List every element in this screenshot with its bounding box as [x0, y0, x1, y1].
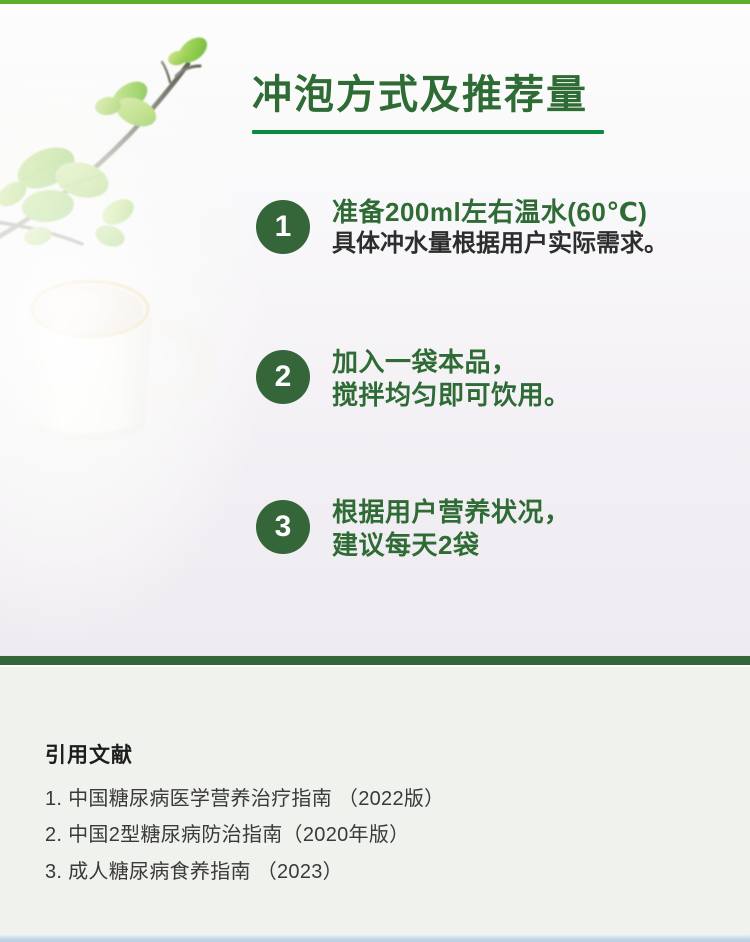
- step-line-3-secondary: 建议每天2袋: [332, 529, 722, 562]
- step-line-2-secondary: 搅拌均匀即可饮用。: [332, 379, 722, 412]
- list-item: 2. 中国2型糖尿病防治指南（2020年版）: [45, 817, 665, 853]
- leaf-branch-photo: [0, 8, 240, 248]
- heading-block: 冲泡方式及推荐量: [252, 72, 672, 134]
- step-line-1-primary: 准备200ml左右温水(60℃): [332, 196, 722, 229]
- list-item: 3. 成人糖尿病食养指南 （2023）: [45, 854, 665, 890]
- step-number-badge-3: 3: [256, 500, 310, 554]
- step-number-badge-2: 2: [256, 350, 310, 404]
- step-line-1-secondary: 具体冲水量根据用户实际需求。: [332, 229, 722, 260]
- title-underline: [252, 130, 604, 134]
- product-instruction-page: 冲泡方式及推荐量 1 准备200ml左右温水(60℃) 具体冲水量根据用户实际需…: [0, 0, 750, 942]
- step-item-3: 3 根据用户营养状况， 建议每天2袋: [252, 496, 722, 572]
- step-item-2: 2 加入一袋本品， 搅拌均匀即可饮用。: [252, 346, 722, 422]
- references-section: 引用文献 1. 中国糖尿病医学营养治疗指南 （2022版） 2. 中国2型糖尿病…: [0, 667, 750, 935]
- steps-list: 1 准备200ml左右温水(60℃) 具体冲水量根据用户实际需求。 2 加入一袋…: [252, 196, 722, 572]
- step-line-2-primary: 加入一袋本品，: [332, 346, 722, 379]
- bottom-accent-strip: [0, 935, 750, 942]
- step-line-3-primary: 根据用户营养状况，: [332, 496, 722, 529]
- step-text-3: 根据用户营养状况， 建议每天2袋: [332, 496, 722, 563]
- step-item-1: 1 准备200ml左右温水(60℃) 具体冲水量根据用户实际需求。: [252, 196, 722, 272]
- list-item: 1. 中国糖尿病医学营养治疗指南 （2022版）: [45, 781, 665, 817]
- step-text-2: 加入一袋本品， 搅拌均匀即可饮用。: [332, 346, 722, 413]
- brewing-instructions-section: 冲泡方式及推荐量 1 准备200ml左右温水(60℃) 具体冲水量根据用户实际需…: [0, 0, 750, 657]
- step-number-badge-1: 1: [256, 200, 310, 254]
- references-title: 引用文献: [45, 739, 665, 769]
- references-block: 引用文献 1. 中国糖尿病医学营养治疗指南 （2022版） 2. 中国2型糖尿病…: [45, 739, 665, 890]
- section-divider-bar: [0, 655, 750, 667]
- top-accent-rule: [0, 0, 750, 4]
- white-mug-with-drink-photo: [0, 232, 234, 502]
- page-title: 冲泡方式及推荐量: [252, 72, 672, 118]
- step-text-1: 准备200ml左右温水(60℃) 具体冲水量根据用户实际需求。: [332, 196, 722, 260]
